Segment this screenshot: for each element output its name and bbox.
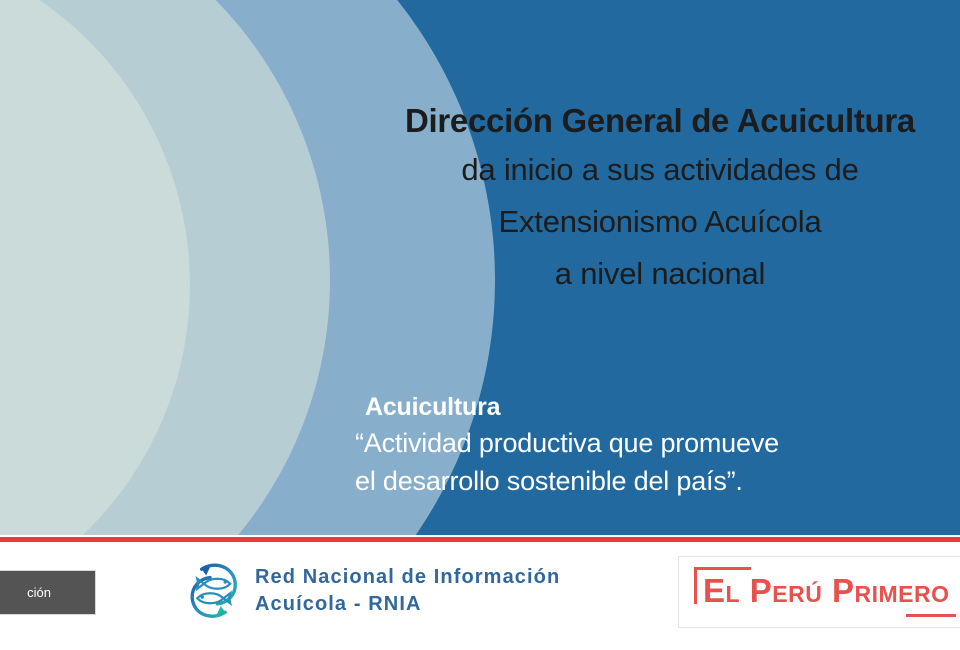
headline-line-3: Extensionismo Acuícola <box>340 196 960 248</box>
poster-root: Dirección General de Acuicultura da inic… <box>0 0 960 650</box>
headline-line-4: a nivel nacional <box>340 248 960 300</box>
rnia-text-line-1: Red Nacional de Información <box>255 564 560 591</box>
headline-line-2: da inicio a sus actividades de <box>340 144 960 196</box>
quote-line-1: “Actividad productiva que promueve <box>355 424 955 462</box>
banner: Dirección General de Acuicultura da inic… <box>0 0 960 535</box>
rnia-text-line-2: Acuícola - RNIA <box>255 591 560 618</box>
headline-block: Dirección General de Acuicultura da inic… <box>340 98 960 300</box>
quote-block: Acuicultura “Actividad productiva que pr… <box>355 390 955 500</box>
headline-line-1: Dirección General de Acuicultura <box>340 98 960 144</box>
arc-middle-translucent <box>0 0 330 535</box>
quote-line-2: el desarrollo sostenible del país”. <box>355 462 955 500</box>
two-fish-circle-icon <box>186 558 242 624</box>
rnia-logo: Red Nacional de Información Acuícola - R… <box>186 558 560 624</box>
el-peru-primero-label: El Perú Primero <box>703 571 949 611</box>
gray-card: ción <box>0 570 96 615</box>
arc-inner-translucent <box>0 0 190 535</box>
gray-card-label: ción <box>27 585 51 600</box>
red-underline-icon <box>906 614 956 617</box>
quote-title: Acuicultura <box>355 390 955 424</box>
el-peru-primero-badge: El Perú Primero <box>678 556 960 628</box>
rnia-logo-text: Red Nacional de Información Acuícola - R… <box>255 564 560 618</box>
